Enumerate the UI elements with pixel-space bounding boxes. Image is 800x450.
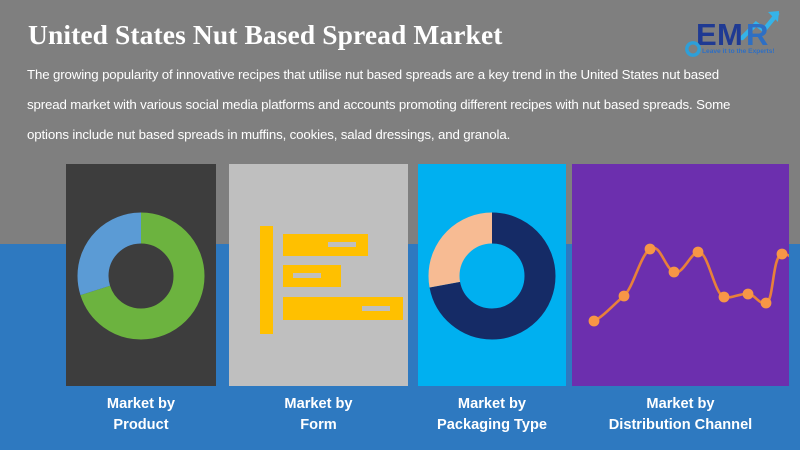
panel-label-packaging-type: Market by Packaging Type: [404, 394, 580, 436]
page-subtitle: The growing popularity of innovative rec…: [27, 60, 743, 150]
panel-label-form: Market by Form: [229, 394, 408, 436]
bar-1-marker: [328, 242, 356, 247]
line-chart-markers: [589, 244, 788, 327]
data-point-8: [761, 298, 772, 309]
bar-2-marker: [293, 273, 321, 278]
data-point-1: [589, 316, 600, 327]
panel-market-by-product[interactable]: [66, 164, 216, 386]
data-point-6: [719, 292, 730, 303]
panel-label-packaging-type-line1: Market by: [404, 394, 580, 415]
data-point-9: [777, 249, 788, 260]
panel-label-distribution-channel: Market by Distribution Channel: [572, 394, 789, 436]
data-point-7: [743, 289, 754, 300]
panel-label-form-line2: Form: [229, 415, 408, 436]
donut-chart-packaging: [418, 164, 566, 386]
logo-tagline-text: Leave it to the Experts!: [702, 48, 775, 55]
line-chart-path: [594, 248, 789, 321]
panel-label-distribution-channel-line2: Distribution Channel: [572, 415, 789, 436]
panel-label-form-line1: Market by: [229, 394, 408, 415]
infographic-canvas: United States Nut Based Spread Market Th…: [0, 0, 800, 450]
data-point-5: [693, 247, 704, 258]
bar-3-marker: [362, 306, 390, 311]
bar-chart-axis: [260, 226, 273, 334]
panel-market-by-distribution-channel[interactable]: [572, 164, 789, 386]
data-point-3: [645, 244, 656, 255]
data-point-2: [619, 291, 630, 302]
page-title: United States Nut Based Spread Market: [28, 19, 503, 51]
donut-chart-product: [66, 164, 216, 386]
panel-label-packaging-type-line2: Packaging Type: [404, 415, 580, 436]
panel-label-product-line1: Market by: [46, 394, 236, 415]
bar-chart-form: [229, 164, 408, 386]
header: United States Nut Based Spread Market Th…: [0, 0, 800, 160]
svg-text:M: M: [717, 17, 742, 52]
panel-market-by-form[interactable]: [229, 164, 408, 386]
panel-market-by-packaging-type[interactable]: [418, 164, 566, 386]
emr-letters-icon: E M R: [696, 17, 768, 52]
panel-label-distribution-channel-line1: Market by: [572, 394, 789, 415]
svg-text:R: R: [746, 17, 768, 52]
line-chart-distribution: [572, 164, 789, 386]
emr-logo[interactable]: E M R Leave it to the Experts!: [680, 8, 784, 58]
panel-label-product: Market by Product: [46, 394, 236, 436]
panel-label-product-line2: Product: [46, 415, 236, 436]
data-point-4: [669, 267, 680, 278]
emr-logo-icon: E M R Leave it to the Experts!: [680, 8, 784, 58]
